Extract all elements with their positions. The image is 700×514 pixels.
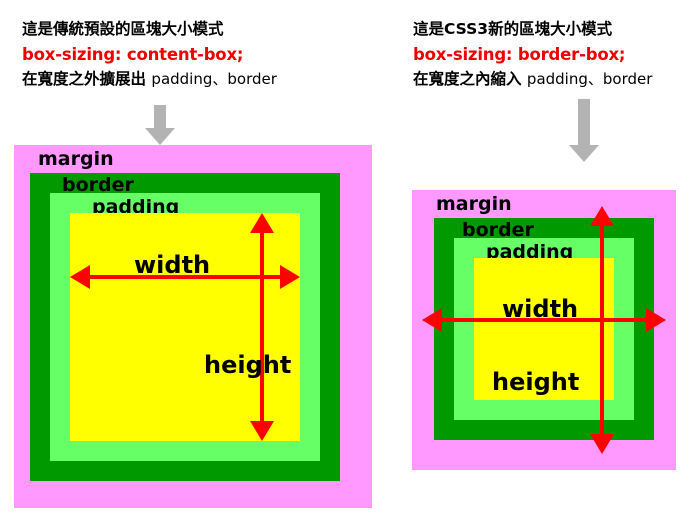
right-caption-line-1: 這是CSS3新的區塊大小模式	[413, 22, 652, 38]
arrow-tip-right	[280, 265, 300, 289]
left-caption-code: box-sizing: content-box;	[22, 47, 277, 64]
arrow-tip-bottom	[250, 421, 274, 441]
left-flow-down-arrow-icon	[140, 105, 180, 145]
left-caption-line-1: 這是傳統預設的區塊大小模式	[22, 22, 277, 38]
arrow-bar	[260, 226, 264, 428]
right-height-label: height	[492, 370, 579, 394]
arrow-tip-right	[646, 308, 666, 332]
left-panel: 這是傳統預設的區塊大小模式 box-sizing: content-box; 在…	[0, 0, 400, 514]
arrow-head	[569, 145, 599, 162]
left-label-margin: margin	[38, 150, 114, 169]
left-height-label: height	[204, 353, 291, 377]
left-caption-line-3-cjk: 在寬度之外擴展出	[22, 70, 146, 88]
right-caption-code: box-sizing: border-box;	[413, 47, 652, 64]
arrow-tip-top	[590, 206, 614, 226]
left-caption-line-3: 在寬度之外擴展出 padding、border	[22, 72, 277, 88]
left-box-model-diagram: margin border padding width height	[14, 145, 372, 508]
right-label-margin: margin	[436, 195, 512, 214]
right-box-model-diagram: margin border padding width height	[412, 190, 676, 470]
left-width-label: width	[134, 253, 210, 277]
left-caption: 這是傳統預設的區塊大小模式 box-sizing: content-box; 在…	[22, 22, 277, 88]
right-caption-line-3-cjk: 在寬度之內縮入	[413, 70, 522, 88]
right-caption: 這是CSS3新的區塊大小模式 box-sizing: border-box; 在…	[413, 22, 652, 88]
arrow-tip-top	[250, 213, 274, 233]
arrow-shaft	[578, 99, 590, 148]
right-flow-down-arrow-icon	[564, 99, 604, 162]
right-caption-line-3-latin: padding、border	[527, 70, 652, 88]
right-width-label: width	[502, 297, 578, 321]
left-caption-line-3-latin: padding、border	[151, 70, 276, 88]
right-caption-line-3: 在寬度之內縮入 padding、border	[413, 72, 652, 88]
right-panel: 這是CSS3新的區塊大小模式 box-sizing: border-box; 在…	[400, 0, 700, 514]
arrow-tip-left	[422, 308, 442, 332]
left-layer-content	[70, 213, 300, 441]
arrow-tip-left	[70, 265, 90, 289]
arrow-head	[145, 128, 175, 145]
arrow-bar	[600, 219, 604, 441]
arrow-tip-bottom	[590, 434, 614, 454]
